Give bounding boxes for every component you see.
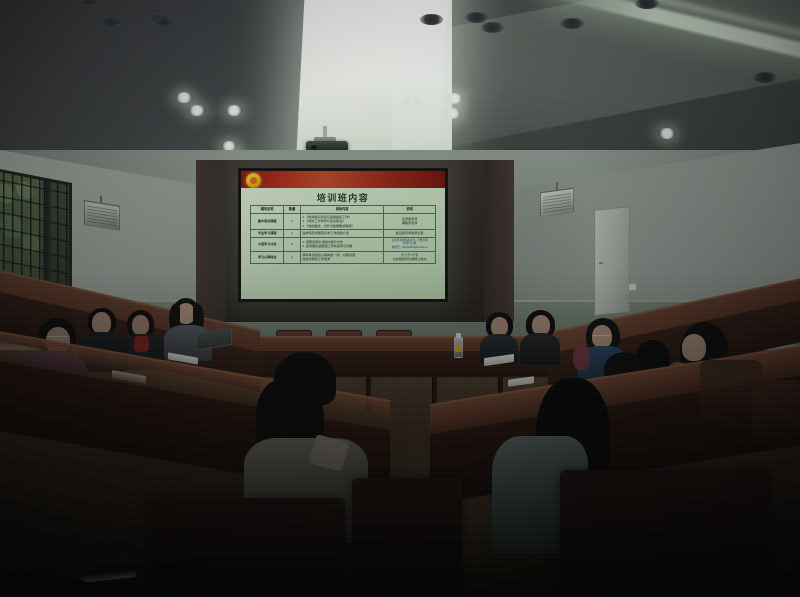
table-row: 专业学习课程 1 医学院及所属院系党工作经验介绍 各班报灵考勤登记表 bbox=[251, 230, 436, 237]
slide-content-table: 模块名称 数量 具体内容 说明 集中培训课程 3 1.《党的组织建设与基层组织工… bbox=[250, 205, 436, 264]
recessed-downlight bbox=[420, 14, 443, 25]
bottle-cap bbox=[456, 333, 461, 338]
chair-foreground-right[interactable] bbox=[560, 470, 770, 597]
recessed-downlight bbox=[446, 93, 463, 104]
chair-back-right-row[interactable] bbox=[752, 380, 800, 450]
fluorescent-light-panel-secondary bbox=[392, 0, 452, 163]
slide-title: 培训班内容 bbox=[241, 191, 445, 204]
chair-foreground-left[interactable] bbox=[150, 498, 345, 597]
table-row: 小组学习讨论 2 1. 调研思想引领的内容与方式 2. 如何做好基层组工作的思考… bbox=[251, 237, 436, 251]
row-count: 3 bbox=[284, 213, 301, 229]
conference-room-photo: 培训班内容 模块名称 数量 具体内容 说明 集中培训课程 3 1.《党的组织建设… bbox=[0, 0, 800, 597]
head bbox=[682, 334, 706, 361]
recessed-downlight bbox=[658, 128, 676, 139]
recessed-downlight bbox=[100, 17, 122, 27]
recessed-downlight bbox=[560, 18, 584, 29]
torso bbox=[520, 333, 560, 365]
pink-sleeve bbox=[573, 346, 590, 370]
row-count: 1 bbox=[284, 251, 301, 263]
bottle-label bbox=[455, 345, 462, 352]
row-module: 学习心得体会 bbox=[251, 251, 284, 263]
row-content: 1. 调研思想引领的内容与方式 2. 如何做好基层组工作的思考与对策 bbox=[300, 237, 383, 251]
eyeglasses-icon bbox=[593, 335, 611, 340]
row-count: 1 bbox=[284, 230, 301, 237]
col-content: 具体内容 bbox=[300, 206, 383, 214]
table-row: 学习心得体会 1 撰写参加培训心得体会一篇，内容自选， 结合思想和工作思考 不少… bbox=[251, 251, 436, 263]
row-count: 2 bbox=[284, 237, 301, 251]
row-note: 自主思考和新进自刊，字数不限 12月31日前 提交至：zhzb3300@fju.… bbox=[384, 237, 436, 251]
col-note: 说明 bbox=[384, 206, 436, 214]
row-content: 1.《党的组织建设与基层组织工作》 2.《党的工作作风与自身建设》 3.《党的路… bbox=[300, 213, 383, 229]
screen-panel-column-right bbox=[484, 160, 514, 322]
row-module: 集中培训课程 bbox=[251, 213, 284, 229]
recessed-downlight bbox=[465, 12, 488, 23]
recessed-downlight bbox=[444, 108, 461, 119]
table-row: 集中培训课程 3 1.《党的组织建设与基层组织工作》 2.《党的工作作风与自身建… bbox=[251, 213, 436, 229]
row-note: 任意懂老师 辅助员老师 bbox=[384, 213, 436, 229]
speaker-grille bbox=[543, 192, 571, 213]
projection-screen: 培训班内容 模块名称 数量 具体内容 说明 集中培训课程 3 1.《党的组织建设… bbox=[238, 168, 448, 302]
slide-banner bbox=[241, 171, 445, 188]
recessed-downlight bbox=[481, 22, 504, 33]
chair-foreground-center[interactable] bbox=[352, 478, 462, 597]
recessed-downlight bbox=[188, 105, 206, 116]
table-header-row: 模块名称 数量 具体内容 说明 bbox=[251, 206, 436, 214]
recessed-downlight bbox=[403, 96, 420, 107]
row-content: 撰写参加培训心得体会一篇，内容自选， 结合思想和工作思考 bbox=[300, 251, 383, 263]
party-emblem-icon bbox=[246, 173, 261, 188]
head bbox=[532, 315, 550, 335]
row-module: 专业学习课程 bbox=[251, 230, 284, 237]
recessed-downlight bbox=[225, 105, 243, 116]
wall-light-switch[interactable] bbox=[628, 283, 637, 292]
wall-speaker-right bbox=[540, 188, 574, 218]
head bbox=[92, 312, 111, 334]
row-module: 小组学习讨论 bbox=[251, 237, 284, 251]
red-scarf bbox=[134, 336, 149, 352]
head bbox=[132, 315, 149, 335]
attendee-right-2 bbox=[520, 310, 562, 360]
col-count: 数量 bbox=[284, 206, 301, 214]
row-note: 不少于1千字 以文档和形式或网上提交 bbox=[384, 251, 436, 263]
attendee-right-1 bbox=[480, 312, 520, 360]
row-note: 各班报灵考勤登记表 bbox=[384, 230, 436, 237]
side-door[interactable] bbox=[594, 206, 630, 316]
recessed-downlight bbox=[175, 92, 193, 103]
recessed-downlight bbox=[153, 17, 175, 27]
row-content: 医学院及所属院系党工作经验介绍 bbox=[300, 230, 383, 237]
recessed-downlight bbox=[753, 72, 777, 83]
water-bottle[interactable] bbox=[454, 336, 463, 358]
door-handle[interactable] bbox=[599, 262, 603, 264]
speaker-grille bbox=[87, 205, 117, 227]
col-module: 模块名称 bbox=[251, 206, 284, 214]
presentation-slide: 培训班内容 模块名称 数量 具体内容 说明 集中培训课程 3 1.《党的组织建设… bbox=[241, 171, 445, 299]
